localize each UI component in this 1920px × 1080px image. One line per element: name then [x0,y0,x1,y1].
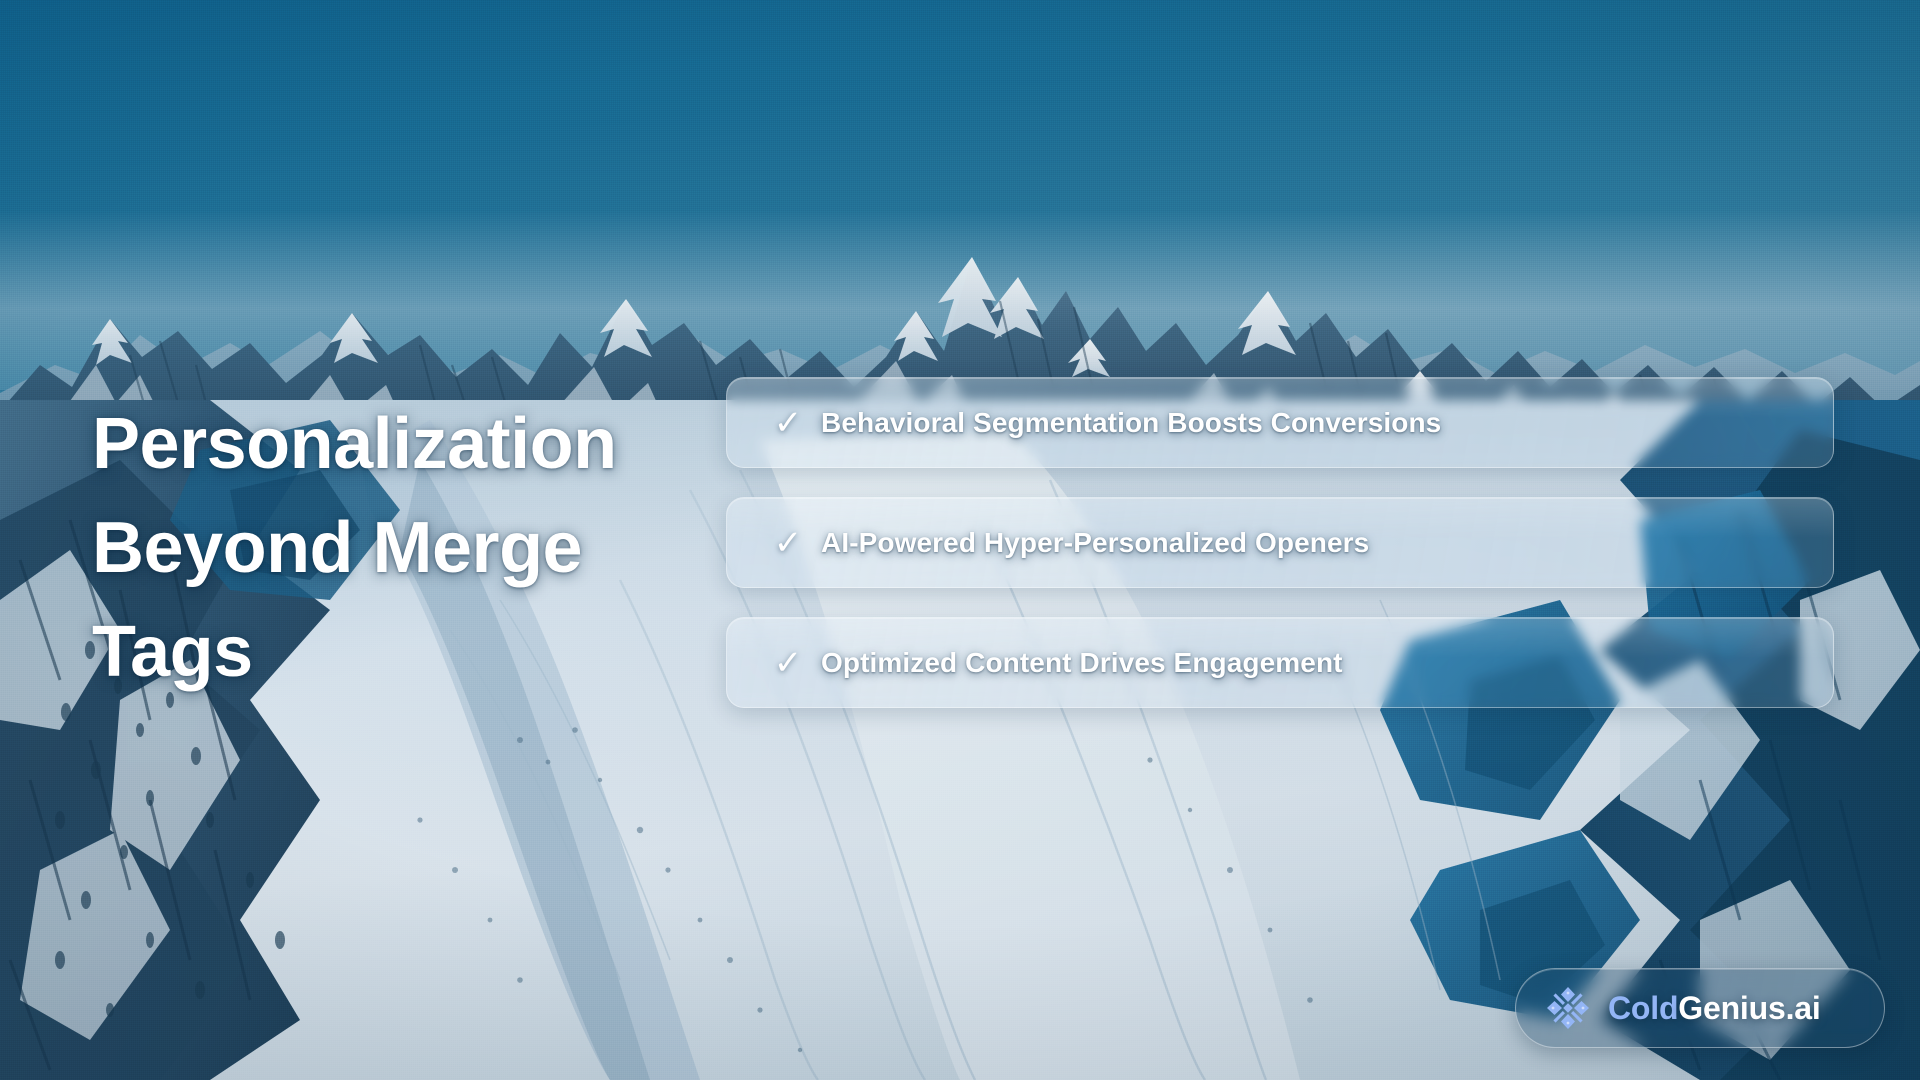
brand-name-primary: Cold [1608,990,1678,1026]
bullet-label-3: Optimized Content Drives Engagement [821,647,1343,679]
slide-canvas: Personalization Beyond Merge Tags ✓ Beha… [0,0,1920,1080]
bullet-list: ✓ Behavioral Segmentation Boosts Convers… [726,377,1834,737]
slide-headline: Personalization Beyond Merge Tags [92,392,692,704]
bullet-card-2[interactable]: ✓ AI-Powered Hyper-Personalized Openers [726,497,1834,588]
brand-wordmark: ColdGenius.ai [1608,990,1821,1027]
snowflake-icon [1544,984,1592,1032]
check-icon: ✓ [769,646,807,680]
brand-badge[interactable]: ColdGenius.ai [1515,968,1885,1048]
brand-name-secondary: Genius.ai [1678,990,1820,1026]
slide-content: Personalization Beyond Merge Tags ✓ Beha… [0,0,1920,1080]
check-icon: ✓ [769,406,807,440]
bullet-card-1[interactable]: ✓ Behavioral Segmentation Boosts Convers… [726,377,1834,468]
bullet-label-1: Behavioral Segmentation Boosts Conversio… [821,407,1441,439]
bullet-label-2: AI-Powered Hyper-Personalized Openers [821,527,1369,559]
bullet-card-3[interactable]: ✓ Optimized Content Drives Engagement [726,617,1834,708]
check-icon: ✓ [769,526,807,560]
